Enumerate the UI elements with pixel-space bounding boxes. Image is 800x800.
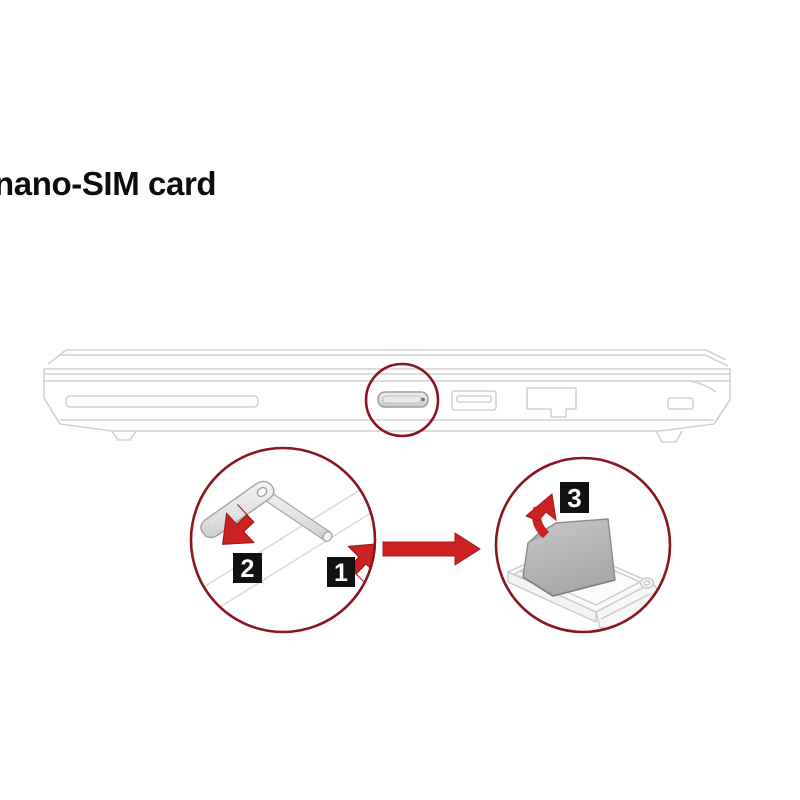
laptop-bevel-right [690,381,716,392]
step-1-badge-label: 1 [334,559,348,587]
laptop-foot-right [656,431,682,442]
diagram-page: nano-SIM card [0,0,800,800]
detail-left-circle [191,448,375,632]
laptop-lid-edge-2 [48,355,728,366]
laptop-left-corner [44,398,60,424]
detail-view-right: 3 [496,458,670,632]
nano-sim-instruction-figure: 2 1 [0,0,800,800]
laptop-card-slot [66,396,258,407]
step-3-badge-label: 3 [567,483,581,513]
ethernet-port [527,388,576,417]
sim-eject-pin [201,481,334,543]
tray-pinhole [421,398,425,402]
step-2-badge-label: 2 [241,555,255,583]
step-1-badge: 1 [327,557,355,587]
usb-port-inner [457,396,491,402]
laptop-right-corner [714,400,730,424]
nano-sim-tray-slot [378,392,428,407]
laptop-foot-left [112,431,136,440]
flow-arrow [383,533,480,565]
step-3-badge: 3 [560,482,589,513]
usb-port [452,391,496,410]
detail-view-left: 2 1 [186,448,398,632]
security-lock-slot [668,398,693,409]
step-2-badge: 2 [233,553,262,583]
